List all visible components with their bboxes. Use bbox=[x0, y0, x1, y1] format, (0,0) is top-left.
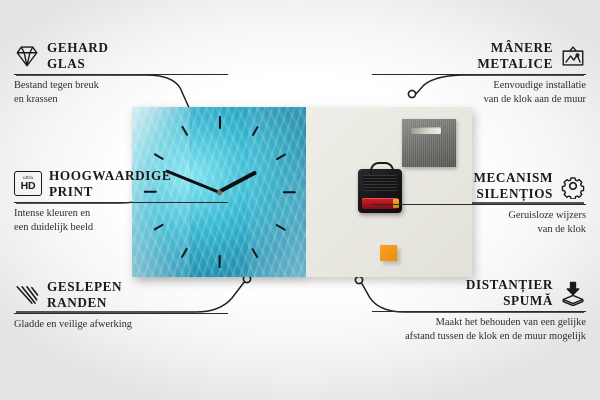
feature-header: GESLEPENRANDEN bbox=[14, 279, 228, 310]
infographic-canvas: GEHARDGLAS Bestand tegen breuken krassen… bbox=[0, 0, 600, 400]
feature-mecanism-silentios: MECANISMSILENȚIOS Geruisloze wijzersvan … bbox=[372, 170, 586, 237]
feature-geslepen-randen: GESLEPENRANDEN Gladde en veilige afwerki… bbox=[14, 279, 228, 332]
feature-manere-metalice: MÂNEREMETALICE Eenvoudige installatievan… bbox=[372, 40, 586, 107]
divider bbox=[14, 313, 228, 314]
feature-title: GEHARDGLAS bbox=[47, 40, 108, 71]
feature-title: DISTANȚIERSPUMĂ bbox=[466, 277, 553, 308]
feature-distantier-spuma: DISTANȚIERSPUMĂ Maakt het behouden van e… bbox=[372, 277, 586, 344]
feature-title: GESLEPENRANDEN bbox=[47, 279, 122, 310]
feature-subtitle: Geruisloze wijzersvan de klok bbox=[372, 209, 586, 236]
feature-header: MECANISMSILENȚIOS bbox=[372, 170, 586, 201]
foam-spacer-icon bbox=[560, 280, 586, 306]
divider bbox=[372, 204, 586, 205]
divider bbox=[372, 74, 586, 75]
divider bbox=[14, 74, 228, 75]
ultra-hd-icon: ultra HD bbox=[14, 171, 42, 196]
gear-icon bbox=[560, 173, 586, 199]
feature-title: MÂNEREMETALICE bbox=[477, 40, 553, 71]
feature-title: MECANISMSILENȚIOS bbox=[473, 170, 553, 201]
feature-subtitle: Gladde en veilige afwerking bbox=[14, 318, 228, 332]
feature-gehard-glas: GEHARDGLAS Bestand tegen breuken krassen bbox=[14, 40, 228, 107]
connector-endpoint bbox=[355, 276, 362, 283]
metal-hanger-plate bbox=[402, 119, 456, 167]
divider bbox=[14, 202, 228, 203]
beveled-edges-icon bbox=[14, 282, 40, 308]
diamond-icon bbox=[14, 43, 40, 69]
divider bbox=[372, 311, 586, 312]
feature-header: ultra HD HOOGWAARDIGEPRINT bbox=[14, 168, 228, 199]
feature-header: MÂNEREMETALICE bbox=[372, 40, 586, 71]
feature-subtitle: Intense kleuren eneen duidelijk beeld bbox=[14, 207, 228, 234]
feature-subtitle: Maakt het behouden van een gelijkeafstan… bbox=[372, 316, 586, 343]
feature-title: HOOGWAARDIGEPRINT bbox=[49, 168, 171, 199]
foam-spacer bbox=[380, 245, 397, 261]
feature-hoogwaardige-print: ultra HD HOOGWAARDIGEPRINT Intense kleur… bbox=[14, 168, 228, 235]
feature-subtitle: Bestand tegen breuken krassen bbox=[14, 79, 228, 106]
feature-header: DISTANȚIERSPUMĂ bbox=[372, 277, 586, 308]
feature-header: GEHARDGLAS bbox=[14, 40, 228, 71]
wall-hanger-icon bbox=[560, 43, 586, 69]
hanger-slot bbox=[411, 127, 441, 134]
feature-subtitle: Eenvoudige installatievan de klok aan de… bbox=[372, 79, 586, 106]
hd-label: HD bbox=[21, 181, 36, 192]
